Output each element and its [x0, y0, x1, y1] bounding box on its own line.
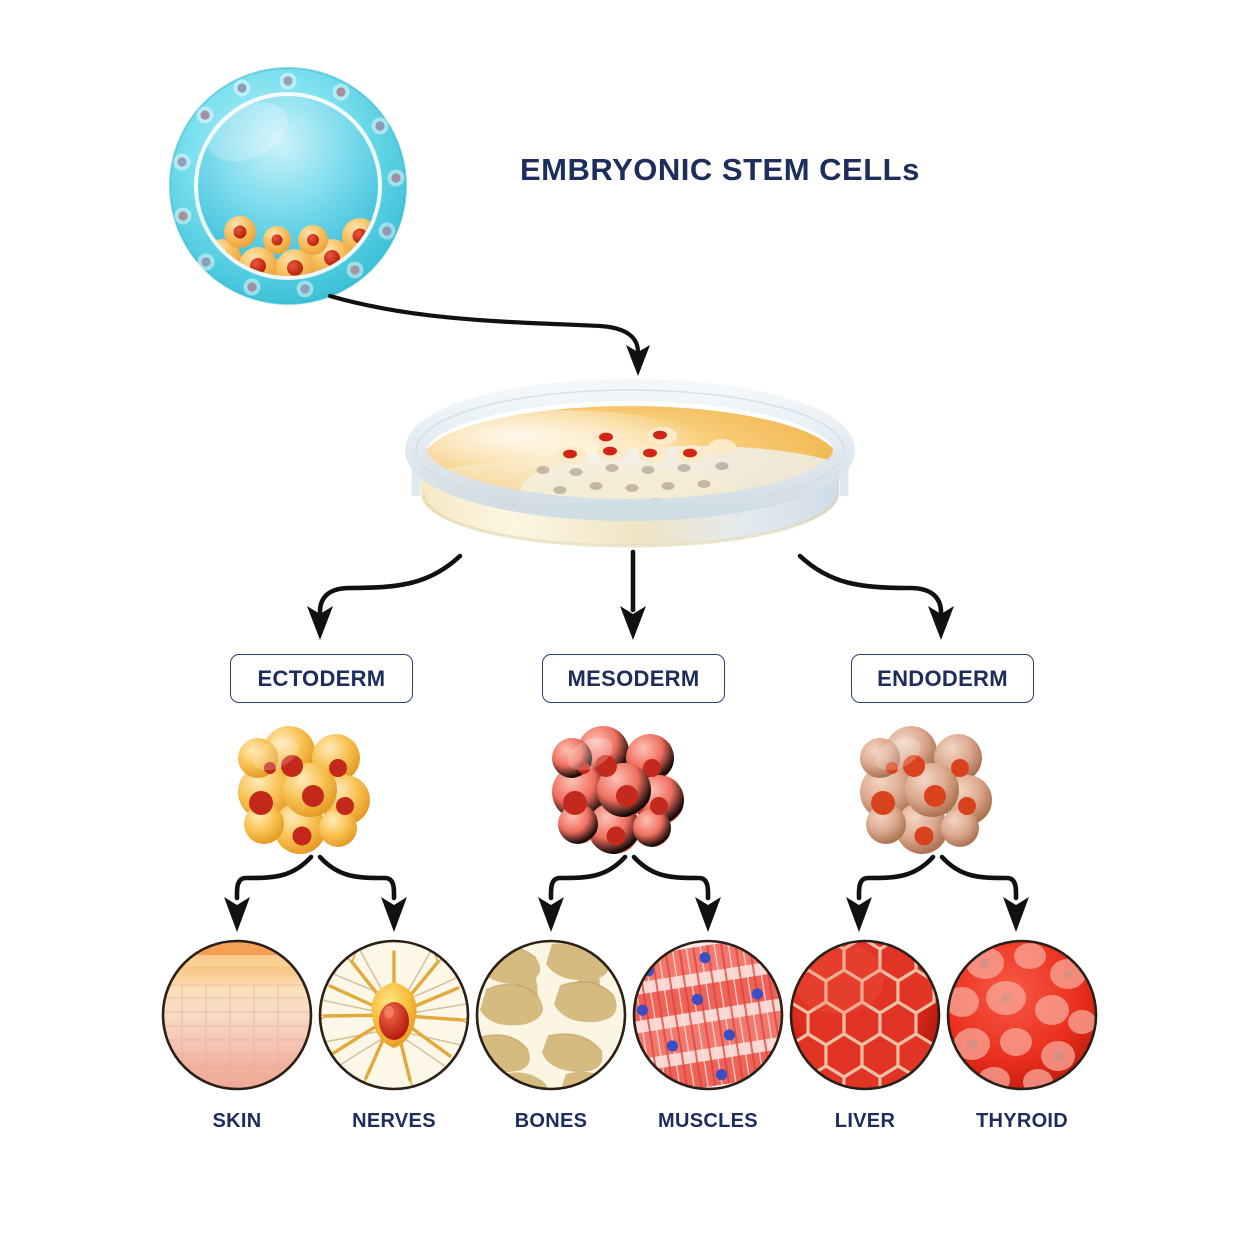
- mesoderm-cell-cluster: [552, 726, 684, 854]
- petri-dish-illustration: [375, 390, 880, 546]
- germ-layer-label-text: MESODERM: [568, 666, 700, 692]
- tissue-label-bones: BONES: [471, 1110, 631, 1133]
- thyroid-tissue-illustration: [944, 941, 1096, 1095]
- blastocyst-illustration: [170, 68, 406, 304]
- tissue-label-liver: LIVER: [785, 1110, 945, 1133]
- diagram-canvas: EMBRYONIC STEM CELLs ECTODERM MESODERM E…: [0, 0, 1251, 1251]
- germ-layer-label-endoderm[interactable]: ENDODERM: [851, 654, 1034, 703]
- muscles-tissue-illustration: [616, 934, 802, 1098]
- tissue-label-skin: SKIN: [157, 1110, 317, 1133]
- nerves-tissue-illustration: [310, 941, 478, 1094]
- tissue-label-muscles: MUSCLES: [628, 1110, 788, 1133]
- liver-tissue-illustration: [790, 938, 939, 1109]
- arrow-blastocyst-to-dish: [330, 296, 650, 376]
- germ-layer-label-mesoderm[interactable]: MESODERM: [542, 654, 725, 703]
- page-title: EMBRYONIC STEM CELLs: [520, 152, 1040, 188]
- germ-layer-label-text: ENDODERM: [877, 666, 1008, 692]
- germ-layer-label-ectoderm[interactable]: ECTODERM: [230, 654, 413, 703]
- ectoderm-cell-cluster: [238, 726, 370, 854]
- germ-layer-label-text: ECTODERM: [258, 666, 386, 692]
- tissue-label-thyroid: THYROID: [942, 1110, 1102, 1133]
- arrows-dish-to-germlayers: [307, 552, 954, 640]
- skin-tissue-illustration: [163, 941, 313, 1089]
- arrows-clusters-to-tissues: [224, 857, 1029, 932]
- bones-tissue-illustration: [472, 941, 625, 1102]
- endoderm-cell-cluster: [860, 726, 992, 854]
- tissue-label-nerves: NERVES: [314, 1110, 474, 1133]
